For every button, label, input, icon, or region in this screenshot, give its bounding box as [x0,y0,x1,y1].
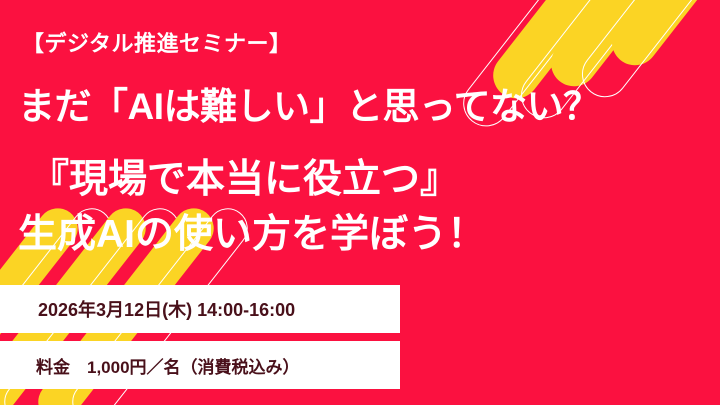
info-bar-fee: 料金 1,000円／名（消費税込み） [0,341,400,389]
info-bar-date: 2026年3月12日(木) 14:00-16:00 [0,285,400,333]
yellow-stripe-icon [603,0,720,74]
seminar-poster: 【デジタル推進セミナー】 まだ「AIは難しい」と思ってない？ 『現場で本当に役立… [0,0,720,405]
headline-line-3: 生成AIの使い方を学ぼう！ [18,203,486,259]
headline-line-1: まだ「AIは難しい」と思ってない？ [18,76,600,130]
seminar-kicker: 【デジタル推進セミナー】 [22,26,292,58]
seminar-fee-text: 料金 1,000円／名（消費税込み） [0,353,300,378]
headline-line-2: 『現場で本当に役立つ』 [30,148,459,204]
seminar-date-text: 2026年3月12日(木) 14:00-16:00 [0,296,295,322]
